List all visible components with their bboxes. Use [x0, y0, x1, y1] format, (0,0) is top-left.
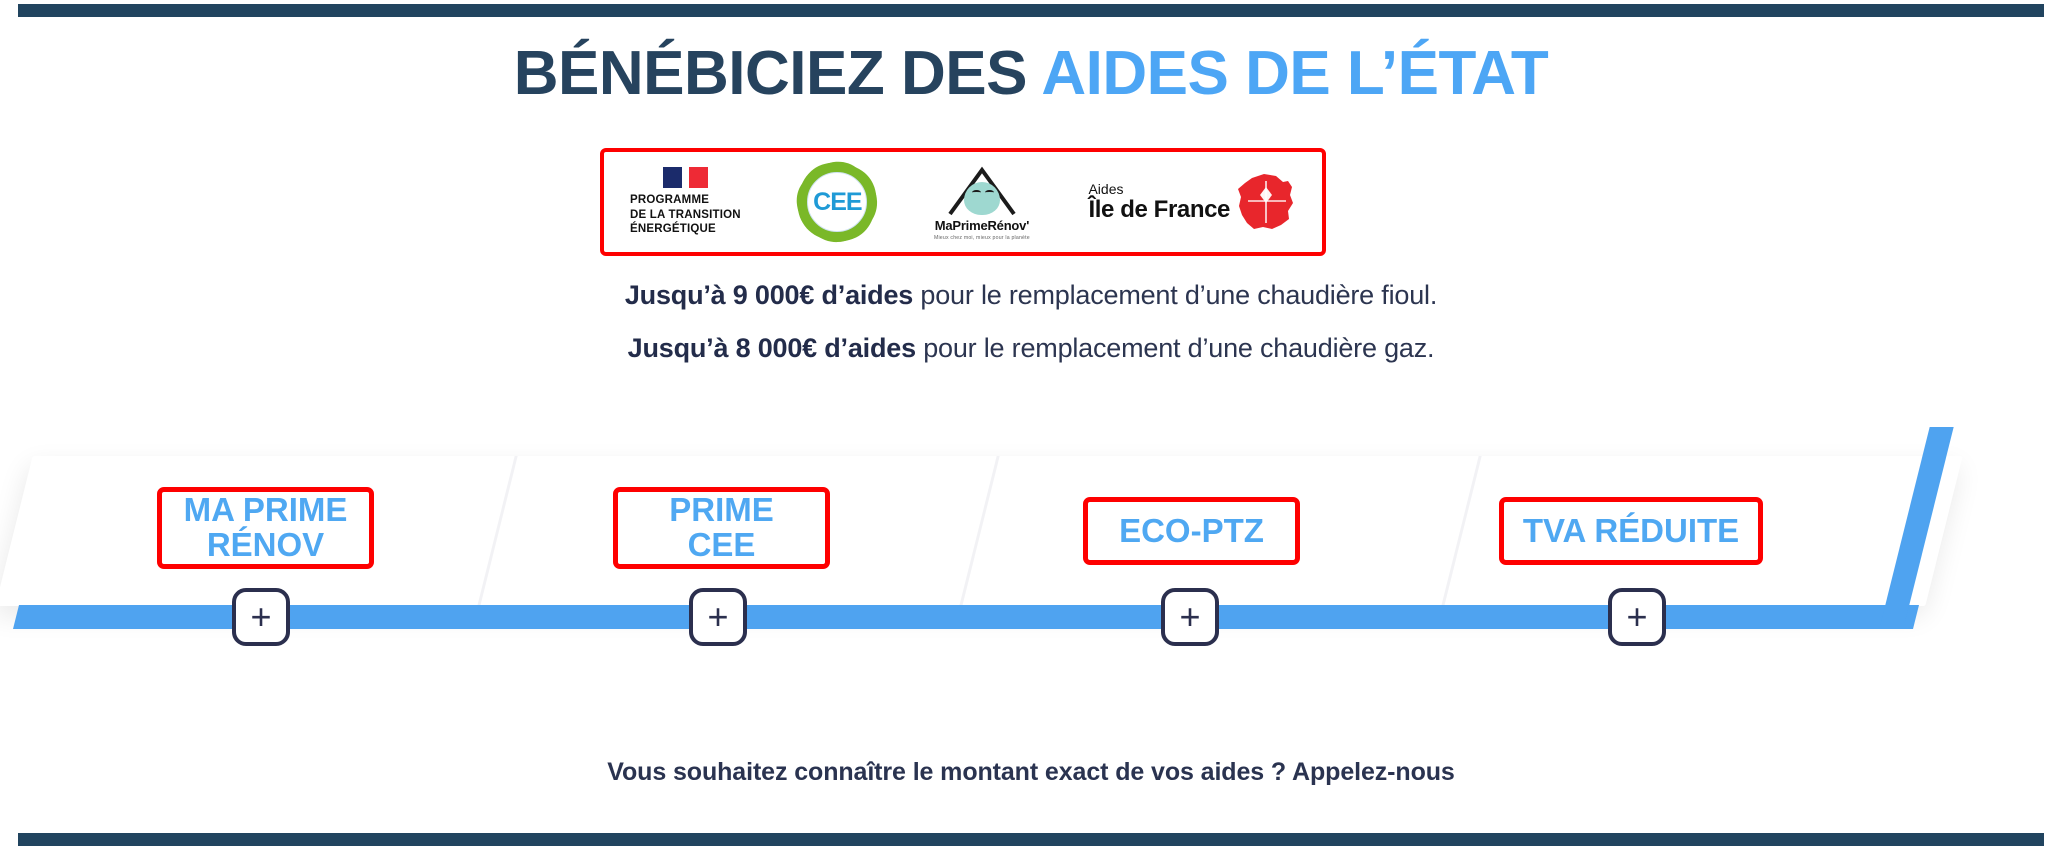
aid-button-tva-reduite[interactable]: TVA RÉDUITE — [1499, 497, 1763, 565]
idf-logo-line1: Aides — [1088, 182, 1230, 197]
aid-amount-statements: Jusqu’à 9 000€ d’aides pour le remplacem… — [0, 282, 2062, 388]
aid-amount-line: Jusqu’à 8 000€ d’aides pour le remplacem… — [0, 335, 2062, 362]
cee-logo-label: CEE — [813, 188, 861, 217]
aid-amount-line: Jusqu’à 9 000€ d’aides pour le remplacem… — [0, 282, 2062, 309]
page-title-dark-part: BÉNÉBICIEZ DES — [514, 39, 1042, 108]
panel-divider — [477, 456, 517, 606]
programme-logo-text: PROGRAMME DE LA TRANSITION ÉNERGÉTIQUE — [630, 193, 741, 236]
aides-ile-de-france-logo: Aides Île de France — [1088, 173, 1296, 231]
page-root: BÉNÉBICIEZ DES AIDES DE L’ÉTAT PROGRAMME… — [0, 0, 2062, 854]
top-divider-bar — [18, 4, 2044, 17]
aid-amount-strong: Jusqu’à 9 000€ d’aides — [625, 280, 913, 310]
maprimerenov-house-icon — [940, 164, 1024, 216]
idf-logo-line2: Île de France — [1088, 197, 1230, 222]
french-flag-icon — [663, 167, 708, 188]
aid-button-eco-ptz[interactable]: ECO-PTZ — [1083, 497, 1300, 565]
page-title-light-part: AIDES DE L’ÉTAT — [1041, 39, 1548, 108]
page-title: BÉNÉBICIEZ DES AIDES DE L’ÉTAT — [0, 38, 2062, 109]
contact-cta-text: Vous souhaitez connaître le montant exac… — [0, 758, 2062, 787]
expand-ma-prime-renov-button[interactable]: + — [232, 588, 290, 646]
partner-logos-strip: PROGRAMME DE LA TRANSITION ÉNERGÉTIQUE C… — [600, 148, 1326, 256]
ile-de-france-map-icon — [1236, 173, 1296, 231]
expand-tva-reduite-button[interactable]: + — [1608, 588, 1666, 646]
maprimerenov-tagline: Mieux chez moi, mieux pour la planète — [934, 235, 1030, 241]
cee-logo: CEE — [799, 164, 875, 240]
aid-button-prime-cee[interactable]: PRIME CEE — [613, 487, 830, 569]
panel-divider — [959, 456, 999, 606]
panel-divider — [1441, 456, 1481, 606]
aid-amount-rest: pour le remplacement d’une chaudière fio… — [913, 280, 1437, 310]
aid-amount-strong: Jusqu’à 8 000€ d’aides — [628, 333, 916, 363]
maprimerenov-label: MaPrimeRénov' — [935, 218, 1029, 233]
expand-eco-ptz-button[interactable]: + — [1161, 588, 1219, 646]
expand-prime-cee-button[interactable]: + — [689, 588, 747, 646]
aid-amount-rest: pour le remplacement d’une chaudière gaz… — [916, 333, 1434, 363]
programme-transition-energetique-logo: PROGRAMME DE LA TRANSITION ÉNERGÉTIQUE — [630, 167, 741, 236]
maprimerenov-logo: MaPrimeRénov' Mieux chez moi, mieux pour… — [934, 164, 1030, 241]
aid-button-ma-prime-renov[interactable]: MA PRIME RÉNOV — [157, 487, 374, 569]
cee-badge-icon: CEE — [799, 164, 875, 240]
bottom-divider-bar — [18, 833, 2044, 846]
